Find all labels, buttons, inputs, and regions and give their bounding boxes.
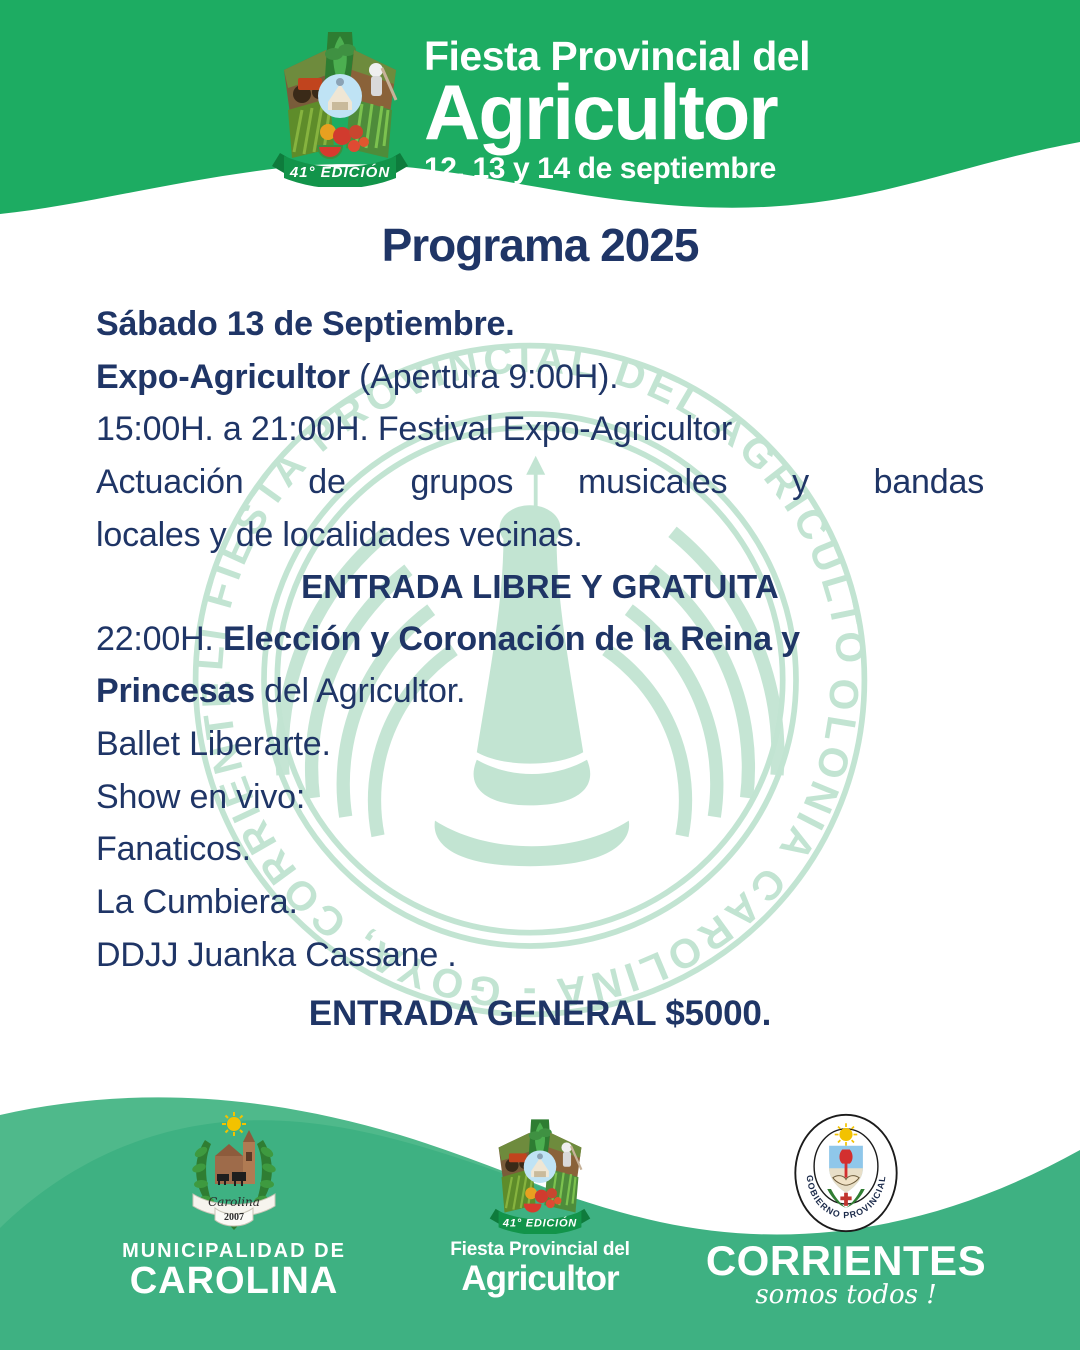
carolina-ribbon-label: Carolina	[208, 1195, 260, 1209]
corrientes-caption: CORRIENTES somos todos !	[706, 1240, 986, 1311]
program-line-free-entry: ENTRADA LIBRE Y GRATUITA	[96, 561, 984, 612]
fiesta-caption-big: Agricultor	[450, 1261, 630, 1296]
program-line-expo-opening: Expo-Agricultor (Apertura 9:00H).	[96, 351, 984, 404]
program-line-coronation-2: Princesas del Agricultor.	[96, 665, 984, 718]
footer-logo-fiesta-agricultor: 41° EDICIÓN Fiesta Provincial del Agricu…	[415, 1112, 665, 1296]
program-line-live-show-label: Show en vivo:	[96, 771, 984, 824]
footer-logo-ribbon-label: 41° EDICIÓN	[502, 1217, 577, 1230]
expo-opening-bold: Expo-Agricultor	[96, 358, 350, 396]
program-line-act-la-cumbiera: La Cumbiera.	[96, 876, 984, 929]
corrientes-caption-script: somos todos !	[706, 1280, 986, 1311]
poster-header: 41° EDICIÓN Fiesta Provincial del Agricu…	[0, 0, 1080, 210]
footer-logo-municipalidad-carolina: Carolina 2007 MUNICIPALIDAD DE CAROLINA	[109, 1112, 359, 1302]
coronation-time: 22:00H.	[96, 620, 223, 658]
municipalidad-caption-big: CAROLINA	[122, 1262, 346, 1302]
program-line-day-heading: Sábado 13 de Septiembre.	[96, 298, 984, 351]
program-content: Programa 2025 Sábado 13 de Septiembre. E…	[0, 218, 1080, 1042]
carolina-year-label: 2007	[224, 1212, 244, 1223]
program-line-coronation-1: 22:00H. Elección y Coronación de la Rein…	[96, 613, 984, 666]
header-dates: 12, 13 y 14 de septiembre	[424, 152, 810, 185]
coronation-bold: Elección y Coronación de la Reina y	[223, 620, 800, 658]
fiesta-caption-small: Fiesta Provincial del	[450, 1240, 630, 1261]
poster-canvas: XLI FIESTA PROVINCIAL DEL AGRICULTOR COL…	[0, 0, 1080, 1350]
program-line-ballet: Ballet Liberarte.	[96, 718, 984, 771]
program-line-general-entry: ENTRADA GENERAL $5000.	[96, 987, 984, 1041]
poster-footer: Carolina 2007 MUNICIPALIDAD DE CAROLINA	[0, 1080, 1080, 1350]
logo-ribbon: 41° EDICIÓN	[272, 153, 408, 187]
header-line-2: Agricultor	[424, 75, 810, 150]
footer-logo-ribbon: 41° EDICIÓN	[490, 1209, 591, 1234]
expo-opening-rest: (Apertura 9:00H).	[350, 358, 619, 396]
municipalidad-carolina-caption: MUNICIPALIDAD DE CAROLINA	[122, 1240, 346, 1302]
fiesta-agricultor-logo-icon: 41° EDICIÓN	[270, 22, 410, 187]
program-line-bands-1: Actuación de grupos musicales y bandas	[96, 456, 984, 509]
program-line-festival-hours: 15:00H. a 21:00H. Festival Expo-Agricult…	[96, 403, 984, 456]
program-line-act-ddjj: DDJJ Juanka Cassane .	[96, 929, 984, 982]
logo-ribbon-label: 41° EDICIÓN	[289, 163, 391, 181]
princesas-bold: Princesas	[96, 672, 255, 710]
corrientes-caption-big: CORRIENTES	[706, 1240, 986, 1282]
municipalidad-carolina-crest-icon: Carolina 2007	[175, 1112, 293, 1234]
page-title: Programa 2025	[96, 218, 984, 272]
fiesta-agricultor-caption: Fiesta Provincial del Agricultor	[450, 1240, 630, 1296]
program-line-bands-2: locales y de localidades vecinas.	[96, 509, 984, 562]
municipalidad-caption-small: MUNICIPALIDAD DE	[122, 1240, 346, 1262]
corrientes-gobierno-provincial-seal-icon: GOBIERNO PROVINCIAL	[790, 1112, 902, 1234]
footer-logo-corrientes: GOBIERNO PROVINCIAL CORRIENTES somos tod…	[721, 1112, 971, 1311]
princesas-rest: del Agricultor.	[255, 672, 465, 710]
fiesta-provincial-del-agricultor-logo: 41° EDICIÓN	[486, 1112, 594, 1234]
program-line-act-fanaticos: Fanaticos.	[96, 823, 984, 876]
header-title-block: Fiesta Provincial del Agricultor 12, 13 …	[424, 22, 810, 185]
